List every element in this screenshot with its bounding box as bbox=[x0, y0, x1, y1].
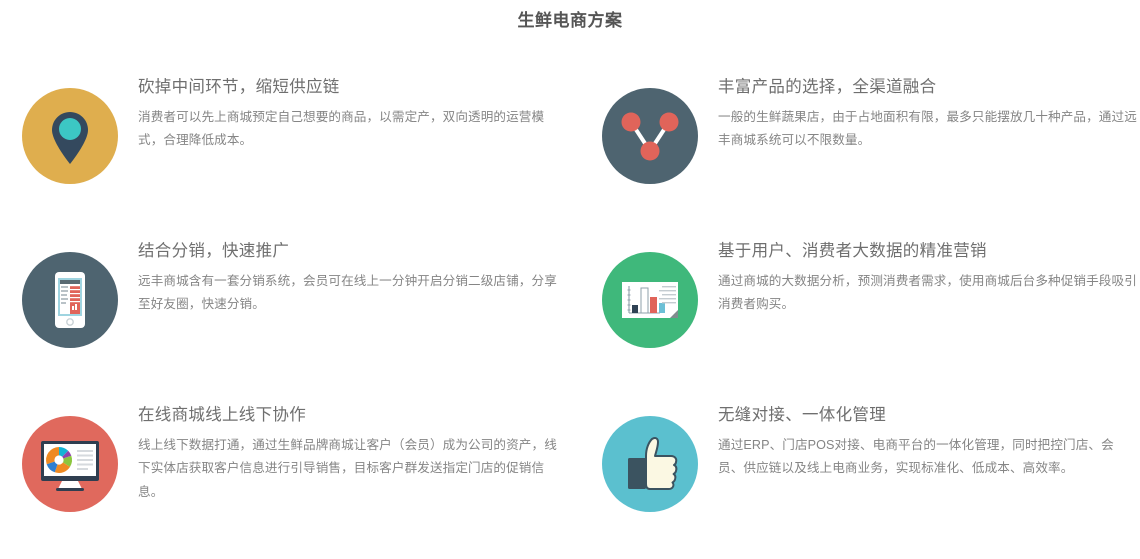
feature-text-4: 基于用户、消费者大数据的精准营销 通过商城的大数据分析，预测消费者需求，使用商城… bbox=[718, 226, 1138, 317]
feature-desc-3: 远丰商城含有一套分销系统，会员可在线上一分钟开启分销二级店铺，分享至好友圈，快速… bbox=[138, 270, 558, 317]
feature-desc-2: 一般的生鲜蔬果店，由于占地面积有限，最多只能摆放几十种产品，通过远丰商城系统可以… bbox=[718, 106, 1138, 153]
feature-card-5[interactable]: 在线商城线上线下协作 线上线下数据打通，通过生鲜品牌商城让客户（会员）成为公司的… bbox=[22, 390, 567, 555]
feature-card-4[interactable]: 基于用户、消费者大数据的精准营销 通过商城的大数据分析，预测消费者需求，使用商城… bbox=[602, 226, 1140, 391]
feature-title-6: 无缝对接、一体化管理 bbox=[718, 404, 1138, 428]
feature-title-4: 基于用户、消费者大数据的精准营销 bbox=[718, 240, 1138, 264]
feature-text-3: 结合分销，快速推广 远丰商城含有一套分销系统，会员可在线上一分钟开启分销二级店铺… bbox=[138, 226, 558, 317]
map-pin-icon bbox=[22, 88, 118, 184]
feature-desc-5: 线上线下数据打通，通过生鲜品牌商城让客户（会员）成为公司的资产，线下实体店获取客… bbox=[138, 434, 558, 504]
feature-title-1: 砍掉中间环节，缩短供应链 bbox=[138, 76, 558, 100]
feature-title-2: 丰富产品的选择，全渠道融合 bbox=[718, 76, 1138, 100]
feature-text-5: 在线商城线上线下协作 线上线下数据打通，通过生鲜品牌商城让客户（会员）成为公司的… bbox=[138, 390, 558, 504]
feature-text-1: 砍掉中间环节，缩短供应链 消费者可以先上商城预定自己想要的商品，以需定产，双向透… bbox=[138, 62, 558, 153]
monitor-pie-chart-icon bbox=[22, 416, 118, 512]
thumbs-up-icon bbox=[602, 416, 698, 512]
bar-chart-document-icon bbox=[602, 252, 698, 348]
feature-card-1[interactable]: 砍掉中间环节，缩短供应链 消费者可以先上商城预定自己想要的商品，以需定产，双向透… bbox=[22, 62, 567, 227]
feature-desc-6: 通过ERP、门店POS对接、电商平台的一体化管理，同时把控门店、会员、供应链以及… bbox=[718, 434, 1138, 481]
feature-card-6[interactable]: 无缝对接、一体化管理 通过ERP、门店POS对接、电商平台的一体化管理，同时把控… bbox=[602, 390, 1140, 555]
feature-text-6: 无缝对接、一体化管理 通过ERP、门店POS对接、电商平台的一体化管理，同时把控… bbox=[718, 390, 1138, 481]
feature-card-3[interactable]: 结合分销，快速推广 远丰商城含有一套分销系统，会员可在线上一分钟开启分销二级店铺… bbox=[22, 226, 567, 391]
feature-desc-1: 消费者可以先上商城预定自己想要的商品，以需定产，双向透明的运营模式，合理降低成本… bbox=[138, 106, 558, 153]
feature-title-5: 在线商城线上线下协作 bbox=[138, 404, 558, 428]
feature-card-2[interactable]: 丰富产品的选择，全渠道融合 一般的生鲜蔬果店，由于占地面积有限，最多只能摆放几十… bbox=[602, 62, 1140, 227]
network-nodes-icon bbox=[602, 88, 698, 184]
feature-grid: 砍掉中间环节，缩短供应链 消费者可以先上商城预定自己想要的商品，以需定产，双向透… bbox=[0, 62, 1140, 559]
feature-title-3: 结合分销，快速推广 bbox=[138, 240, 558, 264]
feature-desc-4: 通过商城的大数据分析，预测消费者需求，使用商城后台多种促销手段吸引消费者购买。 bbox=[718, 270, 1138, 317]
feature-text-2: 丰富产品的选择，全渠道融合 一般的生鲜蔬果店，由于占地面积有限，最多只能摆放几十… bbox=[718, 62, 1138, 153]
smartphone-icon bbox=[22, 252, 118, 348]
page-title: 生鲜电商方案 bbox=[0, 6, 1140, 31]
